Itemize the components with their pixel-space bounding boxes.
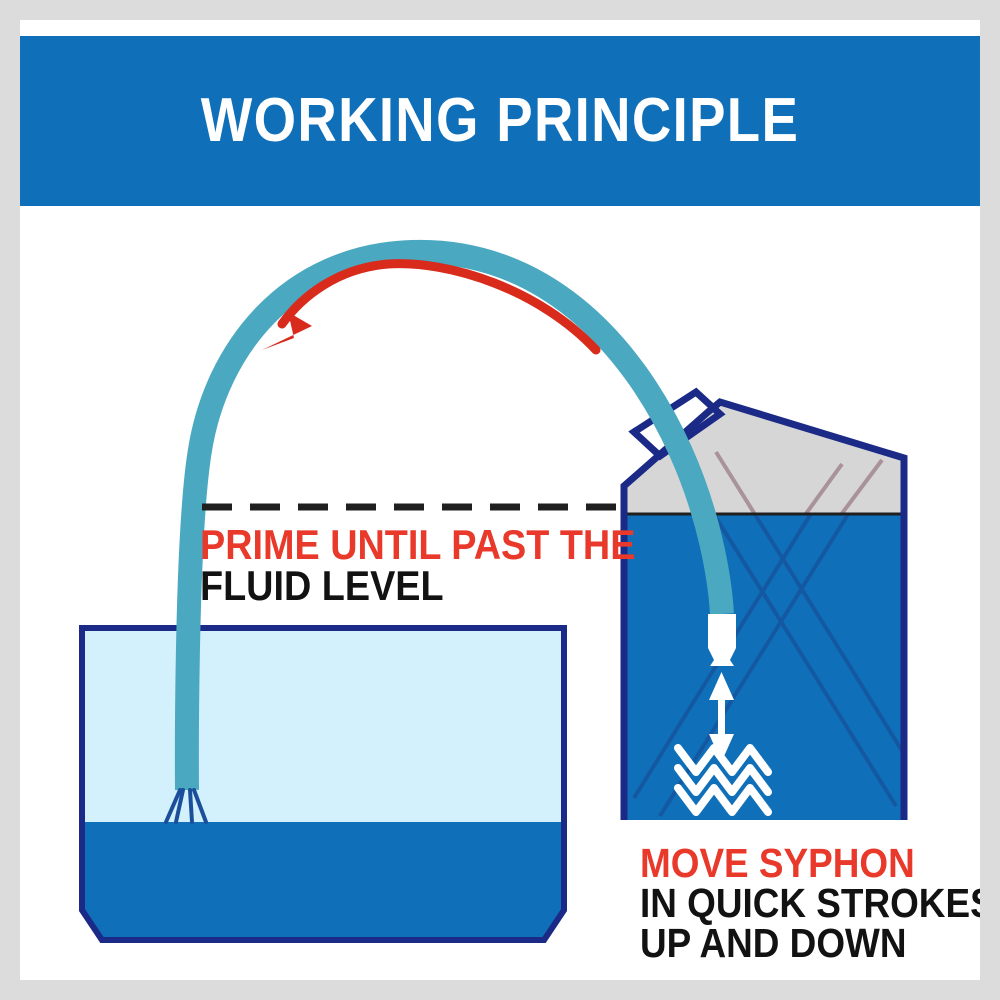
infographic-canvas: WORKING PRINCIPLE (20, 20, 980, 980)
caption-fluid-level-line1: PRIME UNTIL PAST THE (200, 525, 635, 566)
caption-move-syphon-line1: MOVE SYPHON (640, 844, 980, 884)
caption-move-syphon-line3: UP AND DOWN (640, 924, 980, 964)
caption-move-syphon-line2: IN QUICK STROKES (640, 884, 980, 924)
receiving-tank-fluid (82, 822, 564, 940)
working-principle-diagram (20, 20, 980, 980)
jerry-can-fluid (624, 514, 904, 820)
infographic-stage: WORKING PRINCIPLE (0, 0, 1000, 1000)
caption-move-syphon: MOVE SYPHON IN QUICK STROKES UP AND DOWN (640, 844, 980, 963)
caption-fluid-level-line2: FLUID LEVEL (200, 566, 635, 607)
caption-fluid-level: PRIME UNTIL PAST THE FLUID LEVEL (200, 525, 635, 606)
